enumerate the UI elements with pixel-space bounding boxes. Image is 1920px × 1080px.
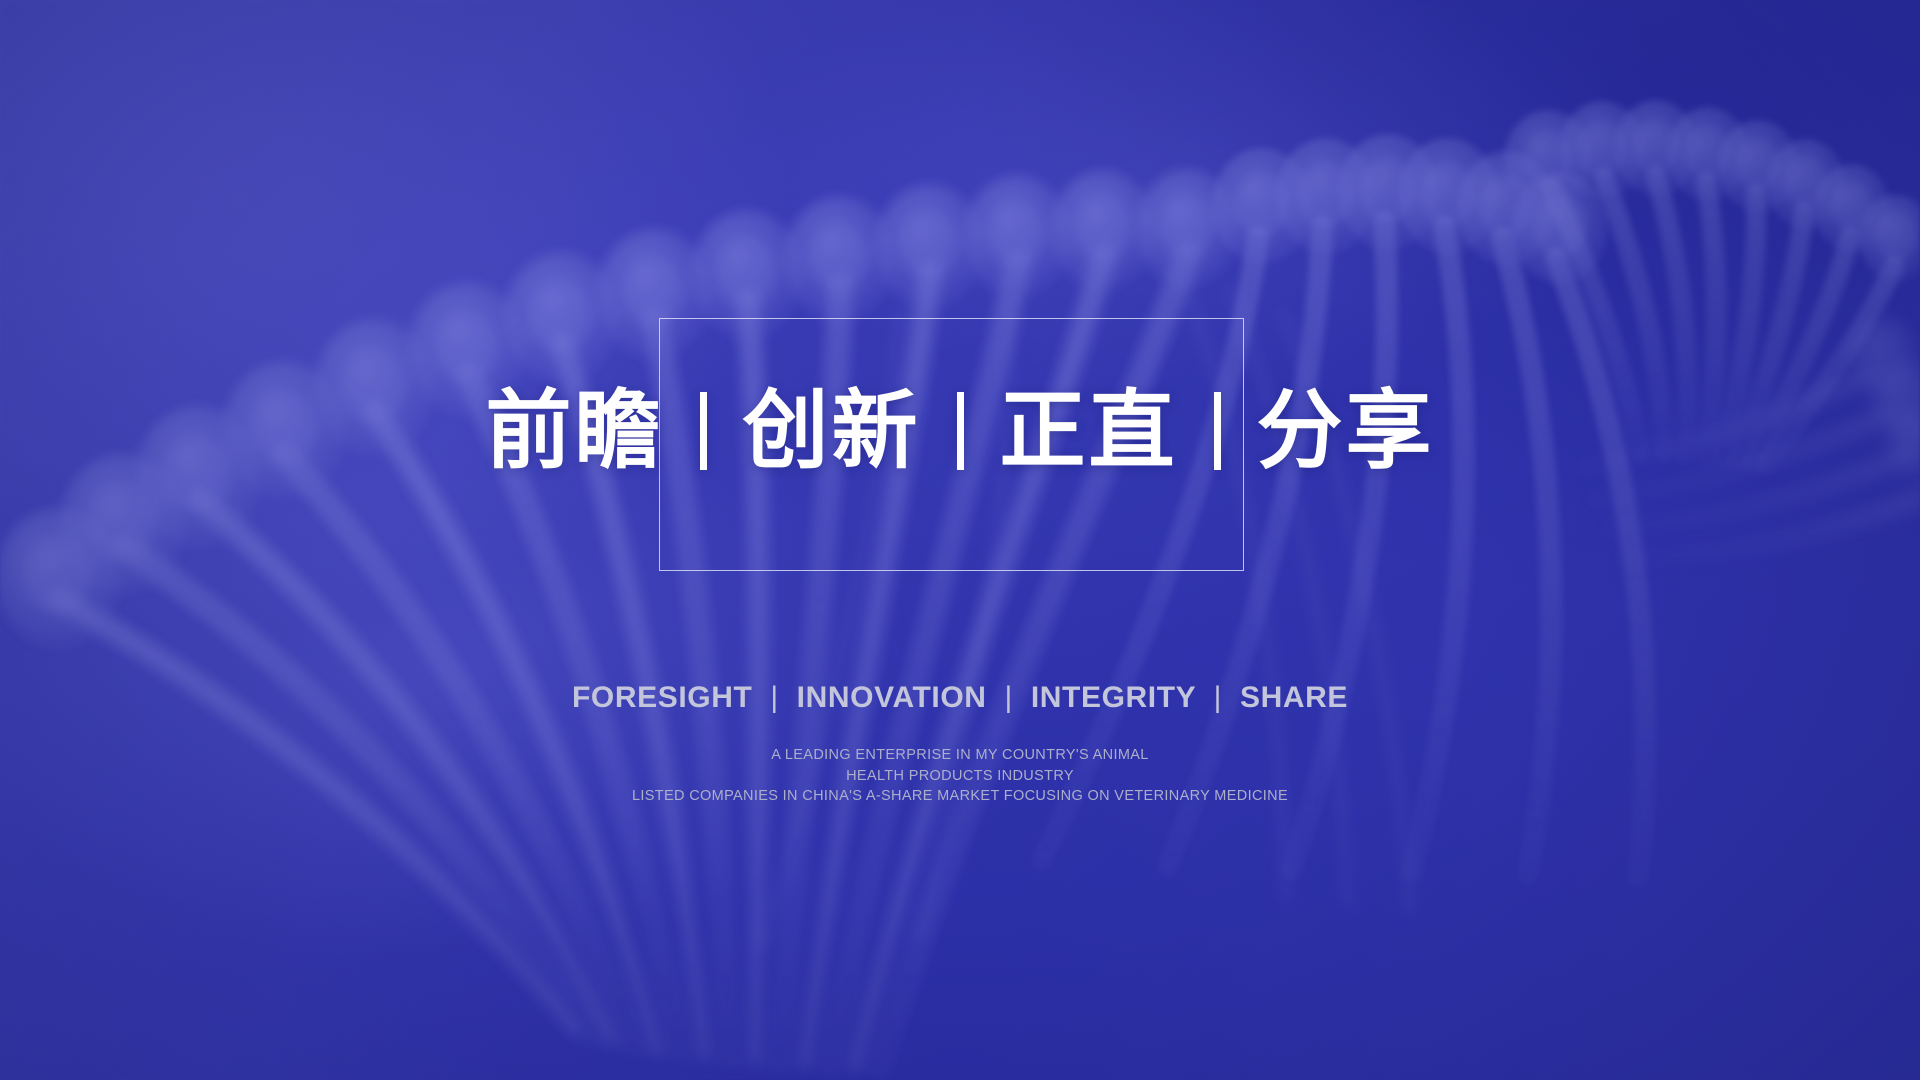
subtitle-word-foresight: FORESIGHT	[572, 681, 752, 714]
title-word-share: 分享	[1257, 385, 1435, 477]
caption-line-3: LISTED COMPANIES IN CHINA'S A-SHARE MARK…	[0, 786, 1920, 807]
subtitle-separator-3: |	[1205, 680, 1231, 716]
subtitle-word-innovation: INNOVATION	[797, 681, 987, 714]
hero-content: 前瞻 创新 正直 分享 FORESIGHT | INNOVATION | INT…	[0, 0, 1920, 1080]
subtitle-word-integrity: INTEGRITY	[1031, 681, 1196, 714]
title-word-foresight: 前瞻	[486, 385, 664, 477]
title-separator-2	[957, 392, 964, 470]
subtitle-separator-2: |	[996, 680, 1022, 716]
title-word-integrity: 正直	[1000, 385, 1178, 477]
subtitle-word-share: SHARE	[1240, 681, 1348, 714]
slide-canvas: 前瞻 创新 正直 分享 FORESIGHT | INNOVATION | INT…	[0, 0, 1920, 1080]
title-word-innovation: 创新	[743, 385, 921, 477]
caption-line-1: A LEADING ENTERPRISE IN MY COUNTRY'S ANI…	[0, 745, 1920, 766]
caption-line-2: HEALTH PRODUCTS INDUSTRY	[0, 766, 1920, 787]
subtitle-values-row: FORESIGHT | INNOVATION | INTEGRITY | SHA…	[0, 680, 1920, 716]
title-separator-1	[700, 392, 707, 470]
subtitle-separator-1: |	[761, 680, 787, 716]
caption-block: A LEADING ENTERPRISE IN MY COUNTRY'S ANI…	[0, 745, 1920, 807]
title-separator-3	[1214, 392, 1221, 470]
title-values-row: 前瞻 创新 正直 分享	[0, 385, 1920, 477]
